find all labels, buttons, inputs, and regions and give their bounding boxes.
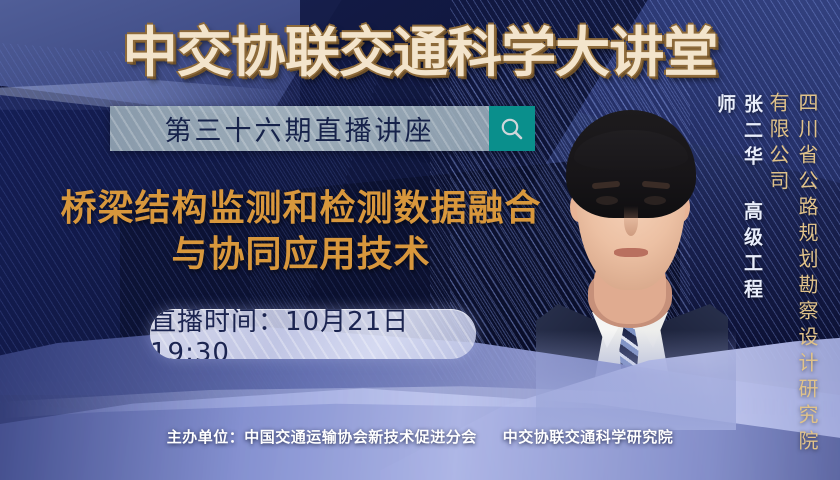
broadcast-time-text: 直播时间：10月21日19:30 [150,309,476,359]
page-title: 中交协联交通科学大讲堂 [141,14,700,80]
portrait-mouth [614,248,648,257]
speaker-name-vertical: 张二华 高级工程师 [712,94,766,314]
episode-banner[interactable]: 第三十六期直播讲座 [110,106,535,151]
broadcast-time-badge: 直播时间：10月21日19:30 [150,309,476,359]
lecture-title: 桥梁结构监测和检测数据融合 与协同应用技术 [36,186,566,278]
search-button[interactable] [489,106,535,151]
footer-organizer-2: 中交协联交通科学研究院 [503,428,674,446]
speaker-organization-vertical: 四川省公路规划勘察设计研究院有限公司 [764,92,822,464]
portrait-eye-right [644,196,666,205]
portrait-nose [624,206,638,236]
lecture-title-line1: 桥梁结构监测和检测数据融合 [60,188,541,229]
episode-label: 第三十六期直播讲座 [165,109,435,148]
portrait-eye-left [596,196,618,205]
footer-prefix: 主办单位： [167,428,245,446]
footer-organizer-1: 中国交通运输协会新技术促进分会 [244,428,477,446]
search-icon [499,116,525,142]
lecture-title-line2: 与协同应用技术 [36,232,566,278]
poster-canvas: 中交协联交通科学大讲堂 第三十六期直播讲座 桥梁结构监测和检测数据融合 与协同应… [0,0,840,480]
footer-organizers: 主办单位：中国交通运输协会新技术促进分会中交协联交通科学研究院 [0,426,840,447]
episode-banner-body: 第三十六期直播讲座 [110,106,489,151]
